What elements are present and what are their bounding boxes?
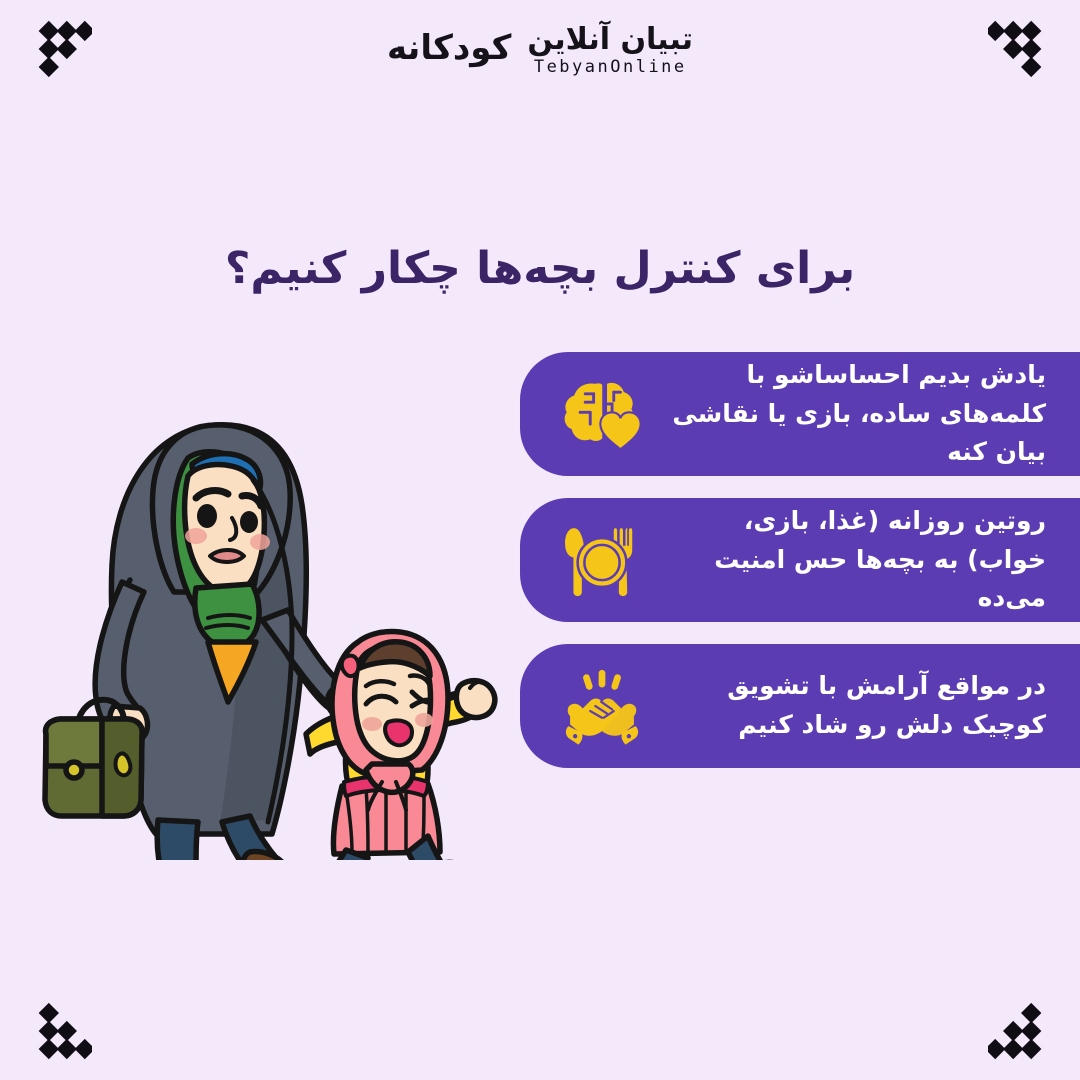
diamond-cluster-icon [20,990,92,1062]
plate-spoon-fork-glyph [560,518,644,602]
brain-heart-glyph [560,372,644,456]
brand-sub-name-fa: کودکانه [387,28,511,76]
header-logo-bar: تبیان آنلاین TebyanOnline کودکانه [0,0,1080,100]
illustration-mother-and-child [10,330,520,860]
brand-logo-primary: تبیان آنلاین TebyanOnline [527,25,693,76]
tip-card-3[interactable]: در مواقع آرامش با تشویق کوچیک دلش رو شاد… [520,644,1080,768]
plate-cutlery-icon [554,512,650,608]
page-title: برای کنترل بچه‌ها چکار کنیم؟ [0,243,1080,294]
brand-logo[interactable]: تبیان آنلاین TebyanOnline کودکانه [387,25,693,76]
clapping-hands-glyph [560,664,644,748]
brain-heart-icon [554,366,650,462]
tip-card-3-text: در مواقع آرامش با تشویق کوچیک دلش رو شاد… [650,667,1080,745]
tips-card-list: یادش بدیم احساساشو با کلمه‌های ساده، باز… [520,352,1080,790]
tip-card-2-text: روتین روزانه (غذا، بازی، خواب) به بچه‌ها… [650,502,1080,618]
tip-card-2[interactable]: روتین روزانه (غذا، بازی، خواب) به بچه‌ها… [520,498,1080,622]
brand-name-fa: تبیان آنلاین [527,25,693,55]
corner-decoration-bottom-right [988,990,1060,1062]
diamond-cluster-icon [988,990,1060,1062]
mother-and-child-drawing [10,330,520,860]
tip-card-1[interactable]: یادش بدیم احساساشو با کلمه‌های ساده، باز… [520,352,1080,476]
clapping-hands-icon [554,658,650,754]
brand-name-en: TebyanOnline [534,59,687,76]
tip-card-1-text: یادش بدیم احساساشو با کلمه‌های ساده، باز… [650,356,1080,472]
corner-decoration-bottom-left [20,990,92,1062]
